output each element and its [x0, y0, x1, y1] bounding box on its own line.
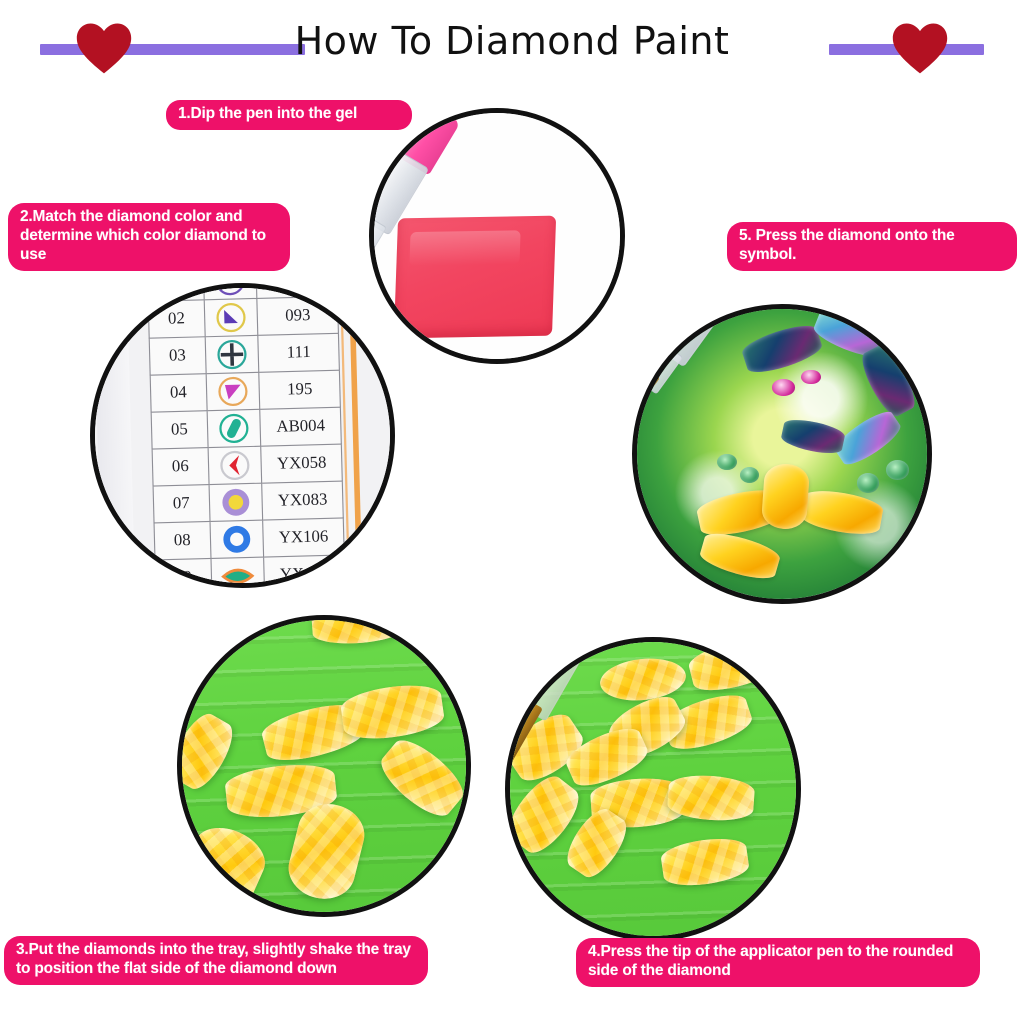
open-ring-icon: [210, 520, 264, 558]
chart-cell-code: 111: [258, 333, 339, 372]
two-dots-circle-icon: [203, 283, 257, 300]
step-4-photo: [505, 637, 801, 941]
chart-cell-code: YX058: [261, 444, 342, 483]
chart-cell-number: 05: [151, 411, 207, 449]
page-title: How To Diamond Paint: [0, 19, 1024, 63]
filled-triangle-icon: [204, 298, 258, 336]
step-1-label: 1.Dip the pen into the gel: [166, 100, 412, 130]
chart-cell-code: YX125: [264, 555, 345, 588]
table-row: 08YX106: [154, 518, 344, 560]
table-row: 09YX125: [155, 555, 345, 588]
chart-cell-code: 195: [259, 370, 340, 409]
chart-cell-number: 06: [152, 448, 208, 486]
poster: How To Diamond Paint 1.Dip the pen into …: [0, 0, 1024, 1024]
chart-cell-number: 02: [148, 300, 204, 338]
step-5-photo: [632, 304, 932, 604]
step-3-label: 3.Put the diamonds into the tray, slight…: [4, 936, 428, 985]
step-4-label: 4.Press the tip of the applicator pen to…: [576, 938, 980, 987]
chart-cell-number: 07: [153, 485, 209, 523]
table-row: 02093: [148, 296, 338, 338]
chart-cell-number: 03: [149, 337, 205, 375]
chart-cell-code: YX106: [263, 518, 344, 557]
chart-cell-number: 08: [154, 522, 210, 560]
step-2-photo: 02802093031110419505AB00406YX05807YX0830…: [90, 283, 395, 588]
table-row: 05AB004: [151, 407, 341, 449]
table-row: 03111: [149, 333, 339, 375]
gel-pad: [394, 216, 556, 339]
table-row: 07YX083: [153, 481, 343, 523]
chart-cell-number: [147, 283, 203, 301]
dot-in-ring-icon: [209, 483, 263, 521]
left-chevron-icon: [208, 446, 262, 484]
chart-cell-code: YX083: [262, 481, 343, 520]
step-1-photo: [369, 108, 625, 364]
step-3-photo: [177, 615, 471, 917]
step-2-label: 2.Match the diamond color and determine …: [8, 203, 290, 271]
chart-cell-code: AB004: [260, 407, 341, 446]
step-5-label: 5. Press the diamond onto the symbol.: [727, 222, 1017, 271]
chart-cell-number: 09: [155, 558, 211, 588]
table-row: 06YX058: [152, 444, 342, 486]
inverted-triangle-icon: [206, 372, 260, 410]
table-row: 04195: [150, 370, 340, 412]
chart-cell-number: 04: [150, 374, 206, 412]
plus-cross-icon: [205, 335, 259, 373]
chart-cell-code: 093: [257, 296, 338, 335]
diamond-color-chart-table: 02802093031110419505AB00406YX05807YX0830…: [147, 283, 346, 588]
leaf-marquise-icon: [210, 557, 264, 588]
slanted-capsule-icon: [207, 409, 261, 447]
